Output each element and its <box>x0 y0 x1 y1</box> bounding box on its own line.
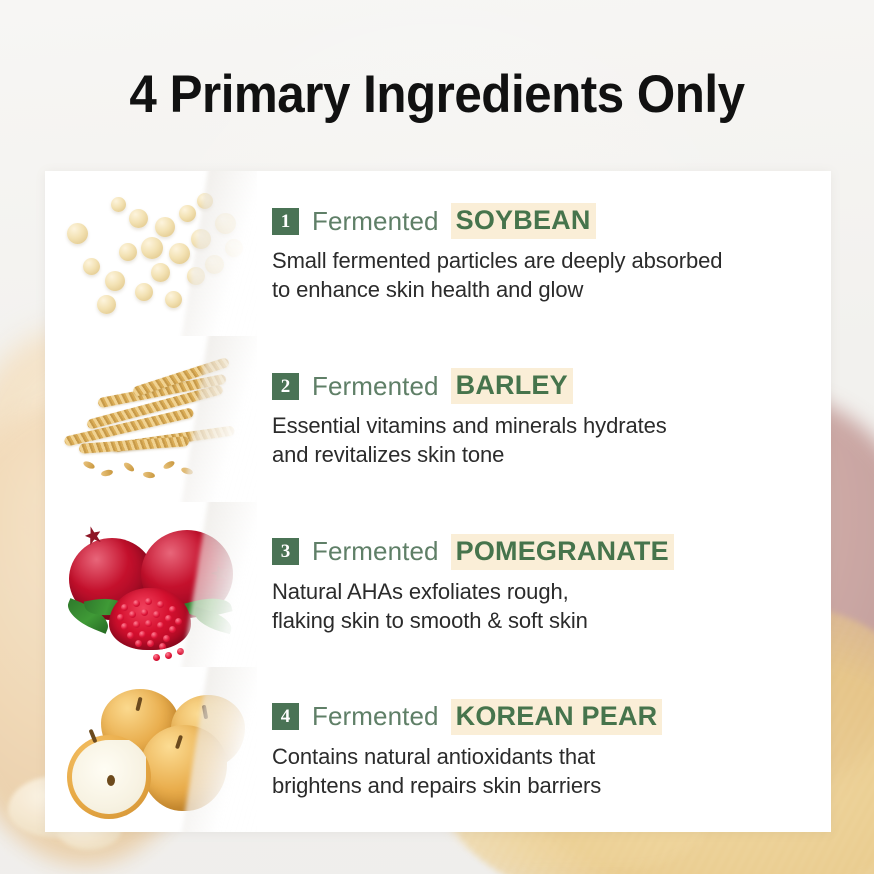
korean-pear-photo <box>45 667 257 832</box>
list-item: 2 Fermented BARLEY Essential vitamins an… <box>45 336 831 501</box>
ingredient-prefix: Fermented <box>312 206 439 237</box>
description-line-1: Natural AHAs exfoliates rough, <box>272 577 813 606</box>
ingredient-text: 4 Fermented KOREAN PEAR Contains natural… <box>257 699 831 800</box>
ingredient-number-badge: 4 <box>272 703 299 730</box>
pomegranate-photo-canvas <box>45 502 257 667</box>
ingredient-headline: 1 Fermented SOYBEAN <box>272 203 813 239</box>
list-item: 1 Fermented SOYBEAN Small fermented part… <box>45 171 831 336</box>
ingredient-name: BARLEY <box>451 368 573 404</box>
soybeans-photo-canvas <box>45 171 257 336</box>
soybeans-photo <box>45 171 257 336</box>
korean-pear-photo-canvas <box>45 667 257 832</box>
ingredient-number-badge: 1 <box>272 208 299 235</box>
ingredient-text: 3 Fermented POMEGRANATE Natural AHAs exf… <box>257 534 831 635</box>
description-line-1: Essential vitamins and minerals hydrates <box>272 411 813 440</box>
ingredient-description: Essential vitamins and minerals hydrates… <box>272 411 813 469</box>
ingredient-name: SOYBEAN <box>451 203 596 239</box>
ingredients-card: 1 Fermented SOYBEAN Small fermented part… <box>45 171 831 832</box>
description-line-2: brightens and repairs skin barriers <box>272 771 813 800</box>
ingredient-headline: 3 Fermented POMEGRANATE <box>272 534 813 570</box>
ingredient-name: KOREAN PEAR <box>451 699 663 735</box>
ingredient-name: POMEGRANATE <box>451 534 674 570</box>
barley-photo-canvas <box>45 336 257 501</box>
ingredient-description: Small fermented particles are deeply abs… <box>272 246 813 304</box>
description-line-2: to enhance skin health and glow <box>272 275 813 304</box>
ingredient-headline: 2 Fermented BARLEY <box>272 368 813 404</box>
ingredients-list: 1 Fermented SOYBEAN Small fermented part… <box>45 171 831 832</box>
list-item: 3 Fermented POMEGRANATE Natural AHAs exf… <box>45 502 831 667</box>
ingredient-text: 1 Fermented SOYBEAN Small fermented part… <box>257 203 831 304</box>
description-line-1: Small fermented particles are deeply abs… <box>272 246 813 275</box>
page-title: 4 Primary Ingredients Only <box>31 68 844 121</box>
ingredient-text: 2 Fermented BARLEY Essential vitamins an… <box>257 368 831 469</box>
ingredient-prefix: Fermented <box>312 371 439 402</box>
ingredient-prefix: Fermented <box>312 701 439 732</box>
description-line-2: and revitalizes skin tone <box>272 440 813 469</box>
ingredient-description: Contains natural antioxidants that brigh… <box>272 742 813 800</box>
ingredients-poster: 4 Primary Ingredients Only <box>0 0 874 874</box>
ingredient-number-badge: 3 <box>272 538 299 565</box>
ingredient-headline: 4 Fermented KOREAN PEAR <box>272 699 813 735</box>
ingredient-prefix: Fermented <box>312 536 439 567</box>
ingredient-description: Natural AHAs exfoliates rough, flaking s… <box>272 577 813 635</box>
description-line-2: flaking skin to smooth & soft skin <box>272 606 813 635</box>
ingredient-number-badge: 2 <box>272 373 299 400</box>
description-line-1: Contains natural antioxidants that <box>272 742 813 771</box>
pomegranate-photo <box>45 502 257 667</box>
barley-photo <box>45 336 257 501</box>
list-item: 4 Fermented KOREAN PEAR Contains natural… <box>45 667 831 832</box>
